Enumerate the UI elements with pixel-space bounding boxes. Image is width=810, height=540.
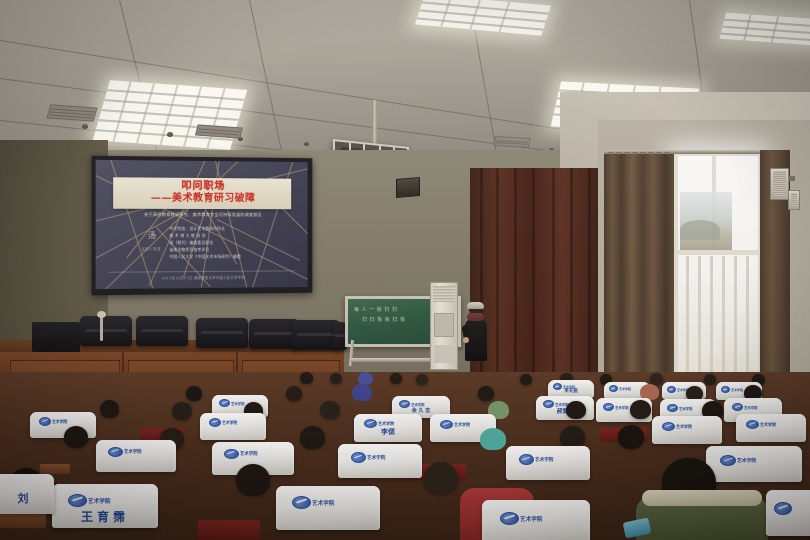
speaker-bracket [789, 176, 795, 181]
list-item: 中国人民大学《中国艺术市场研究》编委 [169, 252, 278, 260]
window [674, 152, 762, 374]
ceiling-vent [46, 104, 97, 121]
ceiling-downlight [82, 124, 88, 129]
wall-speaker-icon [396, 177, 420, 198]
window-security-bar [746, 256, 749, 374]
conference-chair [80, 316, 132, 346]
window-security-bar [722, 256, 725, 374]
ceiling-downlight [167, 132, 173, 137]
seat-logo-text: 艺术学院 [367, 455, 385, 461]
seat-name: 王育霈 [52, 508, 158, 525]
window-security-bar [686, 256, 689, 374]
ceiling-vent [493, 136, 531, 148]
window-security-bar [698, 256, 701, 374]
audience-head [424, 462, 458, 494]
slide-bullet-list: 中学院校、设计艺术教研所所长 美 术 博 大 教 研 所 省（期刊）编委委员职务… [169, 224, 278, 259]
seat-logo-text: 艺术学院 [124, 449, 142, 455]
ceiling-light-panel [720, 13, 810, 46]
audience-head [64, 426, 88, 448]
audience-head [236, 464, 270, 496]
desk-monitor [32, 322, 80, 352]
audience-head [566, 401, 586, 419]
audience-head [618, 425, 644, 449]
audience-hat [480, 428, 506, 450]
stage-curtain [470, 168, 602, 380]
window-security-bar [734, 256, 737, 374]
slide-subtitle: 关于高校教育教学研究、美术教育专业可持续发展的调查报告 [111, 212, 293, 218]
desk-microphone [100, 315, 103, 341]
slide-big-character: 汤 [148, 230, 156, 241]
seat-cover [766, 490, 810, 536]
seat-cover: 艺术学院 [482, 500, 590, 540]
seat-logo-text: 艺术学院 [520, 515, 542, 523]
seat-row: 艺术学院 王育霈 刘 艺术学院 艺术学院 [0, 462, 810, 540]
presenter-cap [467, 302, 484, 309]
lecture-hall-photo: 叩问职场 ——美术教育研习破障 关于高校教育教学研究、美术教育专业可持续发展的调… [0, 0, 810, 540]
wall-speaker-icon [770, 168, 789, 200]
ceiling-downlight [304, 142, 309, 146]
slide-presenter-label: 主讲人 汤 发 [141, 248, 160, 253]
projection-screen: 叩问职场 ——美术教育研习破障 关于高校教育教学研究、美术教育专业可持续发展的调… [92, 156, 313, 296]
window-curtain-left [604, 154, 674, 380]
projector-mount-pole [372, 100, 377, 148]
slide-content: 叩问职场 ——美术教育研习破障 关于高校教育教学研究、美术教育专业可持续发展的调… [96, 160, 308, 289]
audience-head [630, 400, 651, 419]
slide-title-banner: 叩问职场 ——美术教育研习破障 [113, 177, 291, 210]
slide-title-line1: 叩问职场 [182, 182, 226, 193]
wall-speaker-icon [788, 190, 800, 210]
presenter-person [463, 303, 489, 365]
seat-cover: 艺术学院 [276, 486, 380, 530]
audience-head [100, 400, 119, 418]
seat-cover: 艺术学院 王育霈 [52, 484, 158, 528]
coat-fur-collar [642, 490, 762, 506]
chalkboard-text: 每 人 一 板 扫 扫 [354, 306, 397, 313]
ceiling-light-panel [93, 80, 247, 150]
window-outside-view [680, 192, 732, 250]
seat-backrest [198, 520, 260, 540]
window-security-bar [710, 256, 713, 374]
microphone-head-icon [97, 311, 106, 318]
audience-head [172, 402, 192, 420]
ceiling-downlight [238, 137, 243, 141]
seat-cover: 刘 [0, 474, 54, 514]
slide-title-line2: ——美术教育研习破障 [151, 193, 255, 205]
seat-logo-text: 艺术学院 [240, 451, 258, 457]
audience-head [320, 401, 340, 419]
ceiling-light-panel [415, 0, 551, 36]
conference-chair [136, 316, 188, 346]
slide-footer: 2017年12月27日 湖南师范大学中国人民艺术学院 [96, 275, 308, 282]
seat-name: 刘 [0, 490, 54, 506]
seat-logo-text: 艺术学院 [312, 499, 334, 507]
conference-chair [196, 318, 248, 348]
air-conditioner-unit [430, 282, 458, 370]
chalkboard-text: 扫 扫 板 板 扫 板 [362, 316, 405, 323]
seat-armrest [0, 512, 46, 528]
seat-logo-text: 艺术学院 [88, 497, 110, 505]
audience-head [300, 426, 325, 449]
